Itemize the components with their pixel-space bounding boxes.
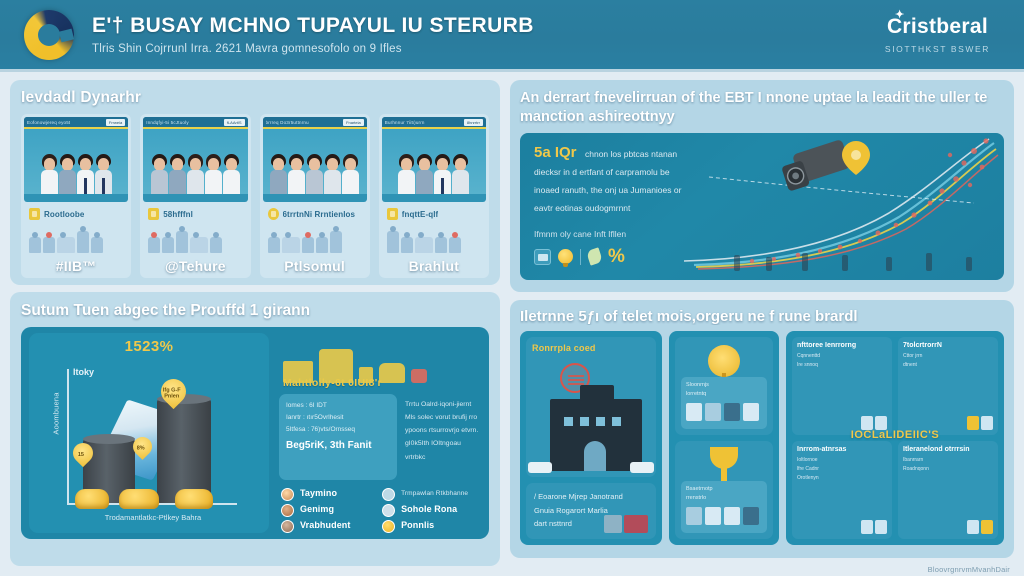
profile-card-badge: Frrweia <box>106 119 125 126</box>
chart-y-axis-label: Aoombuena <box>52 378 61 448</box>
avatar <box>342 152 359 194</box>
logo-notch <box>59 28 74 42</box>
legend-item[interactable]: Trmpawlan Rtkbhanne <box>382 488 473 501</box>
legend-dot-icon <box>382 504 395 517</box>
panel-cases-body: Ronrrpla coed / Eoarone Mjrep Janotrand … <box>520 331 1004 545</box>
profile-doodle-strip <box>263 222 367 256</box>
summary-row: Iomes : 6I IDT <box>286 400 390 412</box>
avatar <box>59 152 76 194</box>
panel-profiles: Ievdadl Dynarhr Eofonowjereq eyo5t Frrwe… <box>10 80 500 285</box>
profile-card-label: fnqttE-qlf <box>402 210 439 219</box>
case-thumb-strip: Bsaetrnotp rrenstrlo <box>681 481 767 533</box>
balloon-label: Ifg G-F Pnlen <box>159 379 184 399</box>
coin-stack-icon <box>175 489 213 509</box>
legend-label: Genimg <box>300 504 334 515</box>
city-illustration <box>279 335 479 383</box>
coin-stack-icon <box>119 489 159 509</box>
profile-card-bar: brrreq Do3r5uttnrnu Fnarteia <box>263 117 367 127</box>
summary-row-value: 76)vts/Ornsseq <box>311 426 355 433</box>
avatar <box>288 152 305 194</box>
vehicle-icon <box>630 462 654 473</box>
quad-cell-line: Ire snnoq <box>797 361 887 370</box>
profile-card[interactable]: brrreq Do3r5uttnrnu Fnarteia 6trrtnNi Rr <box>260 114 370 278</box>
coin-stack-icon <box>75 489 109 509</box>
summary-row-key: 5Itfesa : <box>286 426 309 433</box>
case-thumb-line: Sloonrnjs <box>686 381 762 390</box>
growth-big-stat: 1523% <box>35 338 263 355</box>
profile-card-bar-title: Burhnnur 7ii5)urrn <box>385 120 425 125</box>
avatar <box>434 152 451 194</box>
chart-inline-tag: Itoky <box>73 367 94 377</box>
case-note-line: / Eoarone Mjrep Janotrand <box>534 490 648 504</box>
building-shape-icon <box>319 349 353 383</box>
avatar <box>306 152 323 194</box>
profile-photo-strip <box>143 129 247 194</box>
growth-legend: Taymino Trmpawlan Rtkbhanne Genimg Sohol… <box>279 480 479 533</box>
quad-cell[interactable]: 7tolcrtrorrN Cttor jrrn dtnent <box>898 337 998 435</box>
quad-cell-thumbs <box>967 416 993 430</box>
building-icon <box>550 399 642 471</box>
cloud-icon <box>268 208 279 220</box>
legend-label: Sohole Rona <box>401 504 457 515</box>
chart-y-axis <box>67 369 69 505</box>
legend-dot-icon <box>281 520 294 533</box>
quad-cell-title: Inrrom-atnrsas <box>797 446 887 453</box>
legend-dot-icon <box>382 488 395 501</box>
profile-card[interactable]: Burhnnur 7ii5)urrn 8hnrrtrr fnqttE-qlf <box>379 114 489 278</box>
quad-cell-line: Orotlenyn <box>797 474 887 483</box>
bar-chart-card: 1523% Aoombuena Trodamantlatkc-Ptlkey Ba… <box>29 333 269 533</box>
legend-label: Vrabhudent <box>300 520 351 531</box>
profile-card-bar-title: Eofonowjereq eyo5t <box>27 120 70 125</box>
profile-card-media: Burhnnur 7ii5)urrn 8hnrrtrr <box>382 117 486 202</box>
percent-icon: % <box>608 247 625 266</box>
building-shape-icon <box>283 361 313 383</box>
avatar <box>270 152 287 194</box>
quad-cell-thumbs <box>861 416 887 430</box>
camera-icon <box>779 139 852 192</box>
profile-card-label: Rootloobe <box>44 210 84 219</box>
gold-tree-icon <box>708 345 740 377</box>
case-hero-card[interactable]: Ronrrpla coed <box>526 337 656 477</box>
document-icon <box>29 208 40 220</box>
avatar <box>187 152 204 194</box>
bulb-icon[interactable] <box>558 249 573 264</box>
chart-bar-2 <box>157 399 211 503</box>
avatar <box>95 152 112 194</box>
quad-cell[interactable]: nfttoree Ienrrorng Cqnnenttd Ire snnoq <box>792 337 892 435</box>
quad-cell-line: dtnent <box>903 361 993 370</box>
profile-card-bar: Eofonowjereq eyo5t Frrweia <box>24 117 128 127</box>
panel-growth-title: Sutum Tuen abgec the Prouffd 1 girann <box>21 301 489 321</box>
panel-growth-body: 1523% Aoombuena Trodamantlatkc-Ptlkey Ba… <box>21 327 489 539</box>
case-thumb-blocks <box>686 403 762 421</box>
trend-note: Ifmnm oly cane Inft Ifllen <box>534 229 684 239</box>
legend-dot-icon <box>281 488 294 501</box>
avatar <box>223 152 240 194</box>
quad-cell[interactable]: Inrrom-atnrsas Ioltlornoe lfre Cadnr Oro… <box>792 441 892 539</box>
chart-icon <box>148 208 159 220</box>
growth-summary-card: Iomes : 6I IDT Ianrtr : ıtır5Ovrlhesit 5… <box>279 394 397 480</box>
cases-column-quad: IOCLaLIDEIIC'S nfttoree Ienrrorng Cqnnen… <box>786 331 1004 545</box>
case-mid-card[interactable]: Sloonrnjs lorretntq <box>675 337 773 435</box>
quad-grid: nfttoree Ienrrorng Cqnnenttd Ire snnoq 7… <box>792 337 998 539</box>
panel-trend: An derrart fnevelirruan of the EBT I nno… <box>510 80 1014 292</box>
profile-card[interactable]: Eofonowjereq eyo5t Frrweia Rootloobe <box>21 114 131 278</box>
quad-cell-line: Roadnqonn <box>903 465 993 474</box>
quad-cell-line: Ioltlornoe <box>797 456 887 465</box>
profile-doodle-strip <box>24 222 128 256</box>
quad-cell-title: Itleranelond otrrrsin <box>903 446 993 453</box>
summary-row: Ianrtr : ıtır5Ovrlhesit <box>286 412 390 424</box>
profile-card-label-row: 6trrtnNi Rrntienlos <box>263 202 367 222</box>
bar-chart-plot: Aoombuena Trodamantlatkc-Ptlkey Bahra It… <box>35 357 263 525</box>
panel-trend-body: 5a IQr chnon los pbtcas ntanan diecksr i… <box>520 133 1004 280</box>
profile-card-badge: Fnarteia <box>343 119 364 126</box>
vehicle-icon <box>528 462 552 473</box>
avatar <box>77 152 94 194</box>
case-thumb-strip: Sloonrnjs lorretntq <box>681 377 767 429</box>
profile-photo-strip <box>382 129 486 194</box>
vehicle-shape-icon <box>379 363 405 383</box>
growth-info-columns: Iomes : 6I IDT Ianrtr : ıtır5Ovrlhesit 5… <box>279 394 479 480</box>
legend-dot-icon <box>382 520 395 533</box>
page-title: E'† BUSAY MCHNO TUPAYUL IU STERURB <box>92 14 885 37</box>
profile-card-media: brrreq Do3r5uttnrnu Fnarteia <box>263 117 367 202</box>
case-thumb-line: rrenstrlo <box>686 494 762 503</box>
profile-card-caption: #IIB™ <box>24 256 128 275</box>
marker-shape-icon <box>411 369 427 383</box>
stamp-icon <box>624 515 648 533</box>
brand-tagline: SIOTTHKST BSWER <box>885 44 990 54</box>
trend-icon-row: % <box>534 247 684 266</box>
growth-info-side: Mahtloily-6t 0IUI8'r Iomes : 6I IDT Ianr… <box>275 333 481 533</box>
avatar <box>416 152 433 194</box>
legend-label: Trmpawlan Rtkbhanne <box>401 490 468 498</box>
profile-card-caption: Ptlsomul <box>263 256 367 275</box>
profile-card-row: Eofonowjereq eyo5t Frrweia Rootloobe <box>21 114 489 278</box>
profile-card-media: Eofonowjereq eyo5t Frrweia <box>24 117 128 202</box>
brand-block: ✦ Cristberal SIOTTHKST BSWER <box>885 15 1004 54</box>
profile-card-label: 58hfffnl <box>163 210 193 219</box>
profile-card[interactable]: Inndqfyi-5i 5cJtuoly fLAArtlS 58hfffnl <box>140 114 250 278</box>
panel-cases: Iletrnne 5ƒı of telet mois,orgeru ne f r… <box>510 300 1014 558</box>
summary-row-value: ıtır5Ovrlhesit <box>307 414 344 421</box>
panel-trend-title: An derrart fnevelirruan of the EBT I nno… <box>520 89 1004 126</box>
profile-card-bar-title: brrreq Do3r5uttnrnu <box>266 120 309 125</box>
profile-card-badge: fLAArtlS <box>224 119 245 126</box>
quad-cell[interactable]: Itleranelond otrrrsin Ibanrrarn Roadnqon… <box>898 441 998 539</box>
photo-icon[interactable] <box>534 249 551 265</box>
gold-trophy-icon <box>710 447 738 469</box>
panel-growth-breakdown: Sutum Tuen abgec the Prouffd 1 girann 15… <box>10 292 500 566</box>
page-subtitle: Tlris Shin Cojrrunl Irra. 2621 Mavra gom… <box>92 43 885 55</box>
header-text-block: E'† BUSAY MCHNO TUPAYUL IU STERURB Tlris… <box>88 14 885 55</box>
profile-doodle-strip <box>382 222 486 256</box>
building-shape-icon <box>359 367 373 383</box>
cases-column-mid: Sloonrnjs lorretntq Bsaetrnotp rrenstrlo <box>669 331 779 545</box>
leaf-icon[interactable] <box>586 247 603 265</box>
profile-photo-strip <box>24 129 128 194</box>
profile-card-caption: @Tehure <box>143 256 247 275</box>
panel-trend-text-block: 5a IQr chnon los pbtcas ntanan diecksr i… <box>534 144 684 266</box>
profile-card-badge: 8hnrrtrr <box>464 119 483 126</box>
panel-profiles-title: Ievdadl Dynarhr <box>21 89 489 107</box>
quad-cell-title: nfttoree Ienrrorng <box>797 342 887 349</box>
summary-row-key: Iomes : <box>286 402 307 409</box>
profile-card-label-row: fnqttE-qlf <box>382 202 486 222</box>
brand-name: ✦ Cristberal <box>887 15 988 39</box>
brand-star-icon: ✦ <box>895 8 905 21</box>
footer-note: BloovrgnrvmMvanhDair <box>928 565 1010 574</box>
summary-total: Beg5riK, 3th Fanit <box>286 440 390 451</box>
profile-doodle-strip <box>143 222 247 256</box>
case-thumb-line: Bsaetrnotp <box>686 485 762 494</box>
growth-chart-graphic <box>674 133 1004 280</box>
icon-divider <box>580 249 581 265</box>
page-header: E'† BUSAY MCHNO TUPAYUL IU STERURB Tlris… <box>0 0 1024 72</box>
summary-row: 5Itfesa : 76)vts/Ornsseq <box>286 424 390 436</box>
avatar <box>205 152 222 194</box>
profile-photo-strip <box>263 129 367 194</box>
profile-card-media: Inndqfyi-5i 5cJtuoly fLAArtlS <box>143 117 247 202</box>
avatar <box>169 152 186 194</box>
chart-x-axis-label: Trodamantlatkc-Ptlkey Bahra <box>67 513 239 522</box>
case-note-card[interactable]: / Eoarone Mjrep Janotrand Gnuia Rogarort… <box>526 483 656 539</box>
balloon-label: 8% <box>131 437 150 451</box>
panel-cases-title: Iletrnne 5ƒı of telet mois,orgeru ne f r… <box>520 308 1004 325</box>
quad-cell-line: Ibanrrarn <box>903 456 993 465</box>
profile-card-caption: Brahlut <box>382 256 486 275</box>
quad-cell-line: Cqnnenttd <box>797 352 887 361</box>
pin-marker-icon <box>842 141 870 175</box>
profile-card-label: 6trrtnNi Rrntienlos <box>283 210 356 219</box>
case-hero-title: Ronrrpla coed <box>532 343 650 353</box>
quad-cell-line: Cttor jrrn <box>903 352 993 361</box>
avatar <box>324 152 341 194</box>
avatar <box>151 152 168 194</box>
profile-card-bar: Inndqfyi-5i 5cJtuoly fLAArtlS <box>143 117 247 127</box>
balloon-label: 15 <box>71 443 91 457</box>
legend-item[interactable]: Ponnlis <box>382 520 473 533</box>
legend-item[interactable]: Taymino <box>281 488 372 501</box>
avatar <box>452 152 469 194</box>
legend-dot-icon <box>281 504 294 517</box>
legend-item[interactable]: Vrabhudent <box>281 520 372 533</box>
quad-cell-thumbs <box>967 520 993 534</box>
quad-cell-line: lfre Cadnr <box>797 465 887 474</box>
logo-inner-hole <box>38 24 60 46</box>
summary-row-value: 6I IDT <box>309 402 327 409</box>
cases-column-hero: Ronrrpla coed / Eoarone Mjrep Janotrand … <box>520 331 662 545</box>
case-thumb-line: lorretntq <box>686 390 762 399</box>
legend-item[interactable]: Sohole Rona <box>382 504 473 517</box>
profile-card-label-row: 58hfffnl <box>143 202 247 222</box>
person-icon <box>387 208 398 220</box>
legend-label: Ponnlis <box>401 520 434 531</box>
legend-item[interactable]: Genimg <box>281 504 372 517</box>
infographic-page: E'† BUSAY MCHNO TUPAYUL IU STERURB Tlris… <box>0 0 1024 576</box>
quad-cell-title: 7tolcrtrorrN <box>903 342 993 349</box>
summary-row-key: Ianrtr : <box>286 414 305 421</box>
quad-cell-thumbs <box>861 520 887 534</box>
case-thumb-blocks <box>686 507 762 525</box>
growth-info-paragraph: Trrtu Oalrd·iqoni-jiernt Mls solec vorut… <box>405 394 479 480</box>
trend-stat-value: 5a IQr <box>534 144 577 161</box>
avatar <box>41 152 58 194</box>
avatar <box>398 152 415 194</box>
profile-card-label-row: Rootloobe <box>24 202 128 222</box>
legend-label: Taymino <box>300 488 337 499</box>
profile-card-bar-title: Inndqfyi-5i 5cJtuoly <box>146 120 189 125</box>
case-mid-card[interactable]: Bsaetrnotp rrenstrlo <box>675 441 773 539</box>
profile-card-bar: Burhnnur 7ii5)urrn 8hnrrtrr <box>382 117 486 127</box>
brand-logo-icon <box>20 6 78 64</box>
